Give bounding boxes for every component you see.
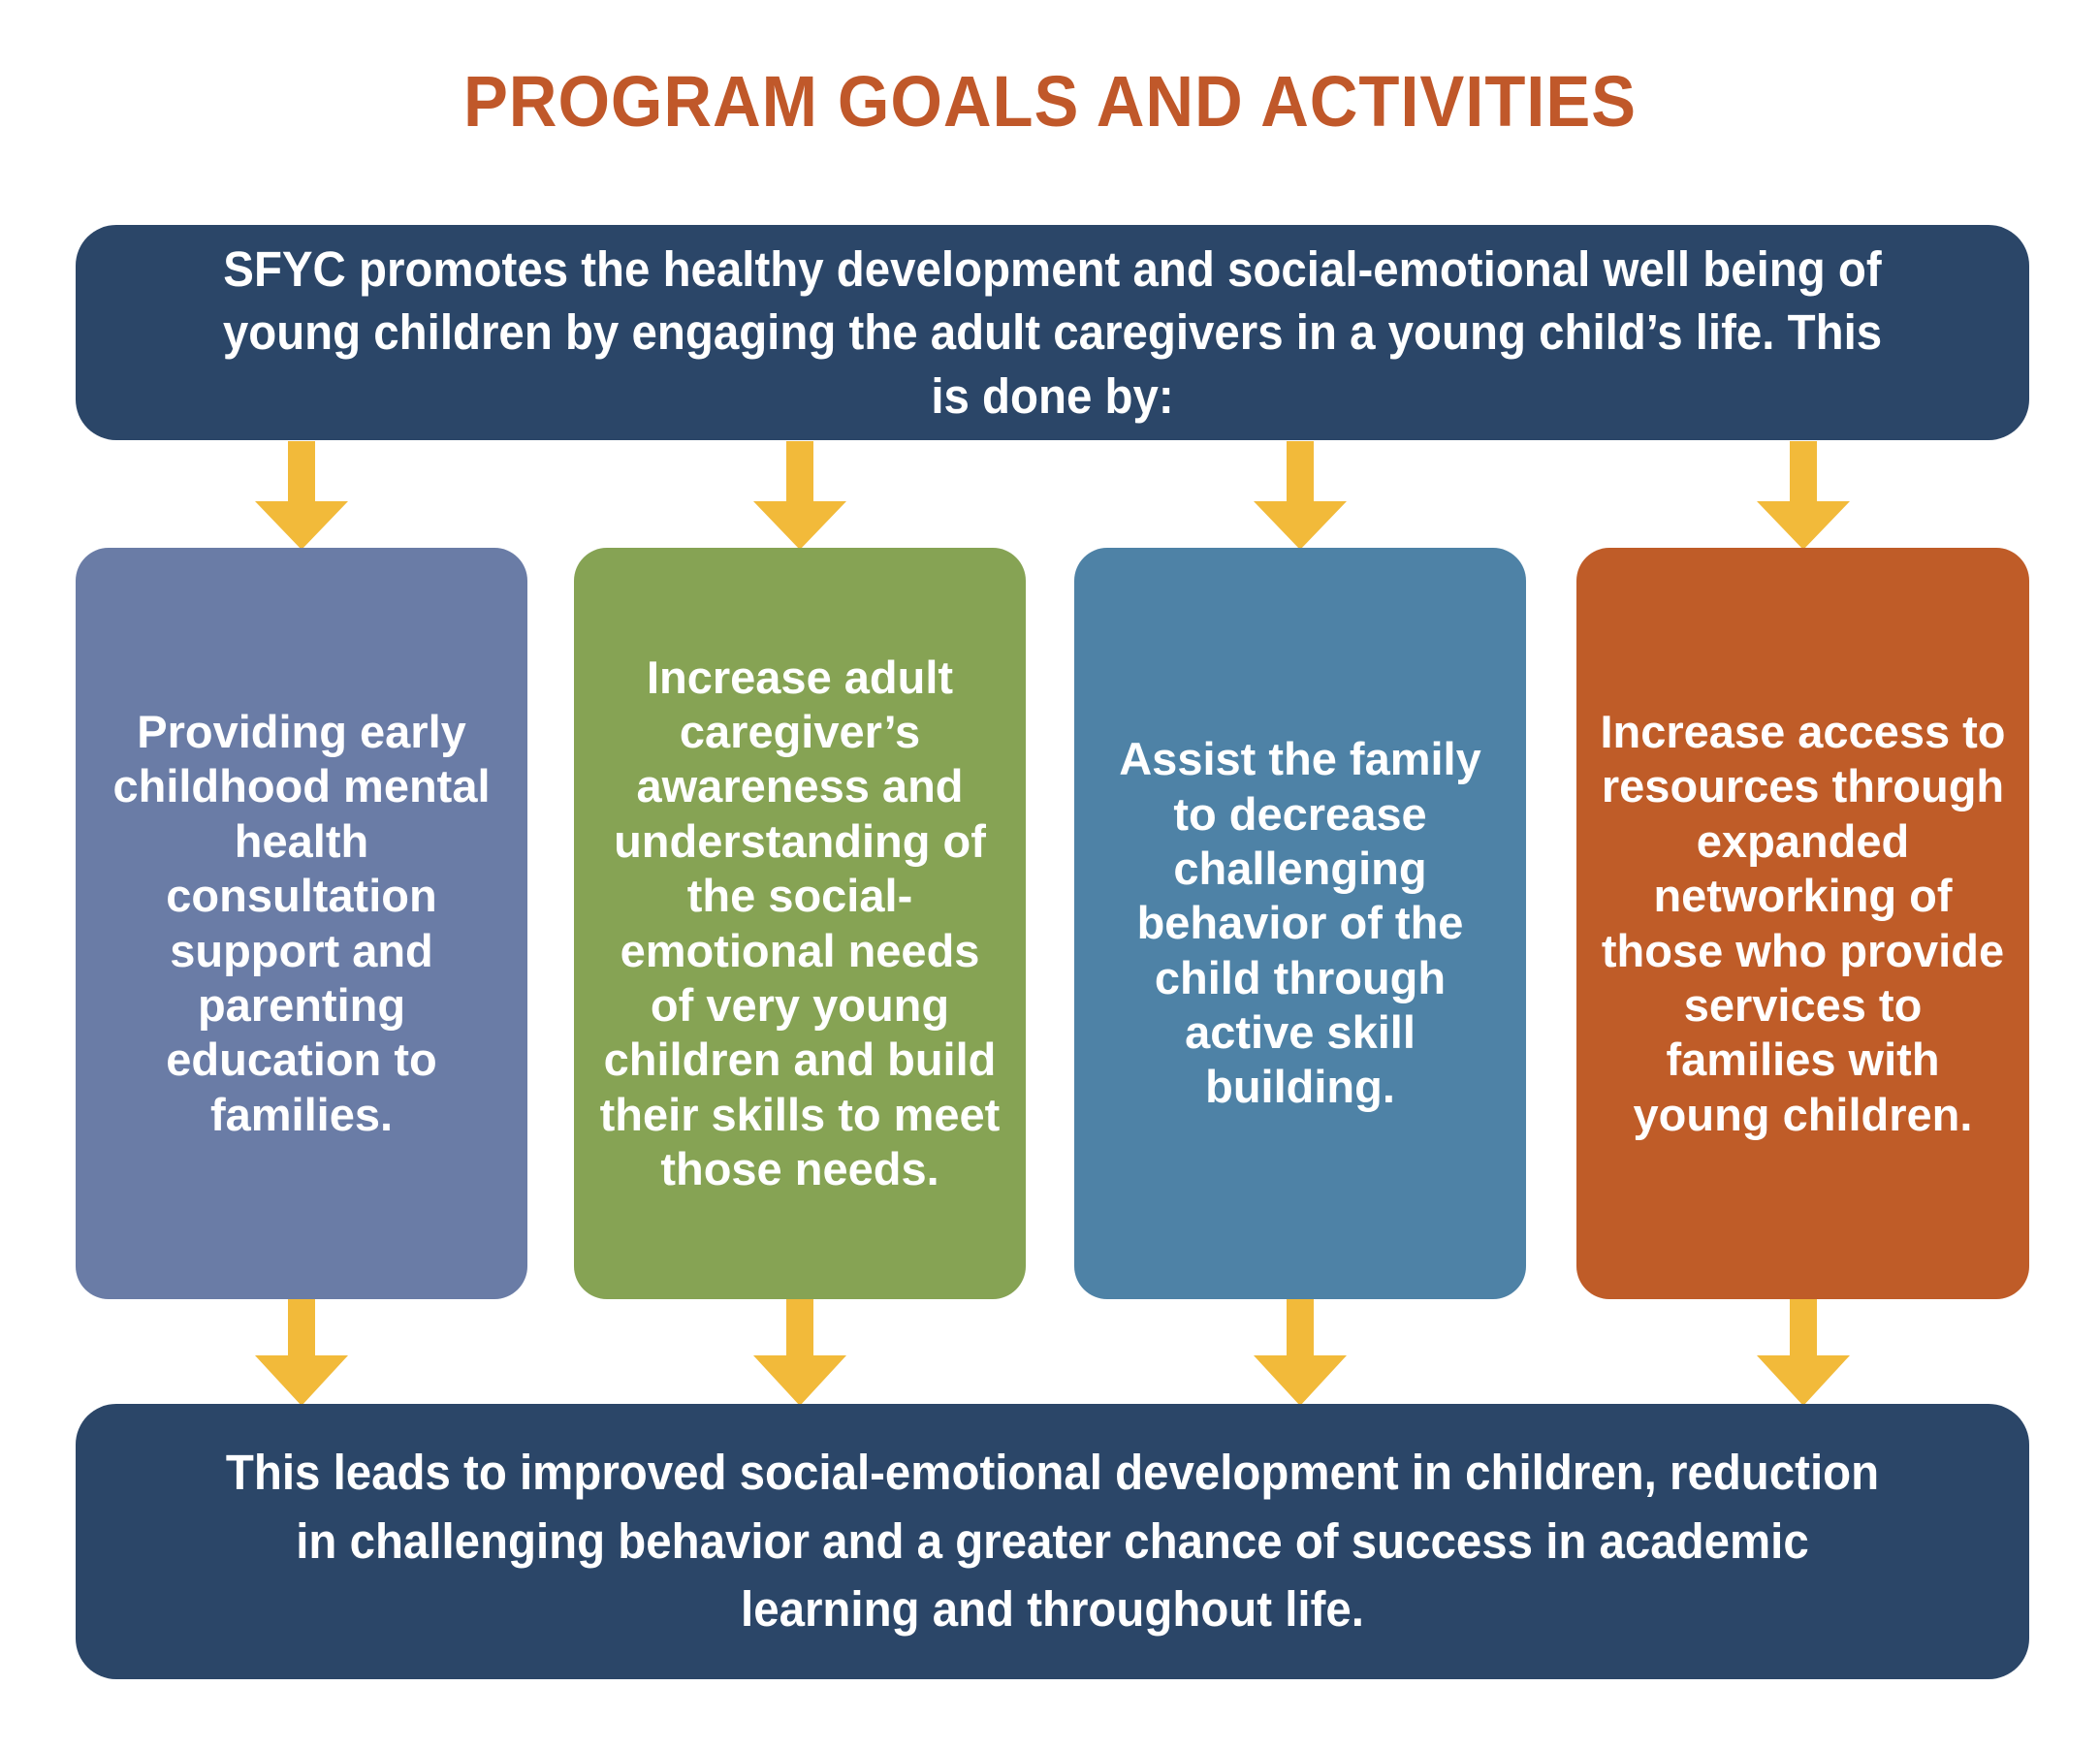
goal-box-2: Increase adult caregiver’s awareness and… [574, 548, 1026, 1299]
arrow-down-icon-top-1 [255, 441, 348, 550]
diagram-canvas: PROGRAM GOALS AND ACTIVITIES SFYC promot… [0, 0, 2100, 1750]
top-statement-text: SFYC promotes the healthy development an… [144, 238, 1961, 428]
goal-box-1: Providing early childhood mental health … [76, 548, 527, 1299]
goal-box-4: Increase access to resources through exp… [1576, 548, 2029, 1299]
goal-box-4-text: Increase access to resources through exp… [1598, 705, 2008, 1142]
arrow-down-icon-bottom-1 [255, 1299, 348, 1406]
arrow-down-icon-top-3 [1254, 441, 1347, 550]
outcome-statement-text: This leads to improved social-emotional … [144, 1439, 1961, 1643]
arrow-down-icon-top-2 [753, 441, 846, 550]
outcome-statement-box: This leads to improved social-emotional … [76, 1404, 2029, 1679]
goal-box-3-text: Assist the family to decrease challengin… [1096, 732, 1505, 1115]
arrow-down-icon-top-4 [1757, 441, 1850, 550]
arrow-down-icon-bottom-2 [753, 1299, 846, 1406]
top-statement-box: SFYC promotes the healthy development an… [76, 225, 2029, 440]
goal-box-1-text: Providing early childhood mental health … [97, 705, 506, 1142]
goal-box-2-text: Increase adult caregiver’s awareness and… [595, 651, 1004, 1197]
arrow-down-icon-bottom-4 [1757, 1299, 1850, 1406]
goal-box-3: Assist the family to decrease challengin… [1074, 548, 1526, 1299]
arrow-down-icon-bottom-3 [1254, 1299, 1347, 1406]
page-title: PROGRAM GOALS AND ACTIVITIES [74, 60, 2026, 143]
